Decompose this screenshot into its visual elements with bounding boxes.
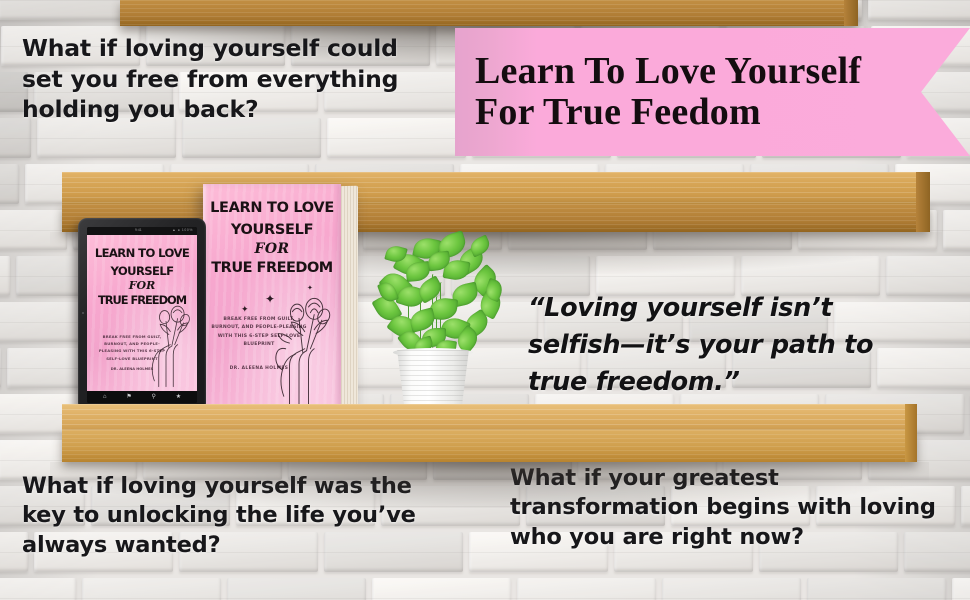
headline-line-1: Learn To Love Yourself <box>475 51 970 92</box>
ebook-title-line-2: YOURSELF <box>87 264 197 278</box>
ebook-title-line-3: FOR <box>87 279 197 292</box>
shelf-top-endcap <box>844 0 858 26</box>
shelf-bottom-endcap <box>905 404 917 462</box>
search-icon[interactable]: ⚲ <box>152 394 156 400</box>
ereader-tablet[interactable]: 9:41 ▲ ● 100% LEARN TO LOVE YOURSELF FOR… <box>78 218 206 412</box>
headline-ribbon-banner: Learn To Love Yourself For True Feedom <box>455 28 970 156</box>
sparkle-icon: ✦ <box>241 304 249 315</box>
banner-scene: Learn To Love Yourself For True Feedom W… <box>0 0 970 600</box>
shelf-bottom-surface <box>62 404 917 430</box>
status-indicators: ▲ ● 100% <box>172 228 193 232</box>
hand-with-flowers-illustration <box>261 280 337 408</box>
plant-foliage <box>352 228 512 358</box>
ebook-title-line-1: LEARN TO LOVE <box>87 246 197 260</box>
tablet-navigation-bar[interactable]: ⌂⚑⚲★ <box>87 391 197 403</box>
shelf-top <box>120 0 858 26</box>
book-title-line-4: TRUE FREEDOM <box>203 260 341 276</box>
pot-ribbing <box>394 350 472 412</box>
hand-with-flowers-illustration <box>137 293 195 389</box>
star-icon[interactable]: ★ <box>176 394 181 400</box>
printed-book: LEARN TO LOVE YOURSELF FOR TRUE FREEDOM … <box>203 184 358 412</box>
home-icon[interactable]: ⌂ <box>103 394 107 400</box>
status-bar: 9:41 ▲ ● 100% <box>87 227 197 235</box>
shelf-bottom-shadow <box>50 462 929 508</box>
shelf-middle-endcap <box>916 172 930 232</box>
book-cover-title: LEARN TO LOVE YOURSELF FOR TRUE FREEDOM <box>203 200 341 276</box>
camera-icon <box>82 312 84 314</box>
shelf-bottom-edge <box>62 430 917 462</box>
bookmark-icon[interactable]: ⚑ <box>126 394 131 400</box>
question-top-left: What if loving yourself could set you fr… <box>22 33 442 125</box>
potted-plant <box>352 228 512 412</box>
book-title-line-2: YOURSELF <box>203 222 341 238</box>
pull-quote: “Loving yourself isn’t selfish—it’s your… <box>528 290 928 402</box>
shelf-middle-surface <box>62 172 930 204</box>
status-time: 9:41 <box>135 228 142 232</box>
book-front-cover: LEARN TO LOVE YOURSELF FOR TRUE FREEDOM … <box>203 184 341 412</box>
shelf-top-edge <box>120 0 858 26</box>
tablet-screen[interactable]: 9:41 ▲ ● 100% LEARN TO LOVE YOURSELF FOR… <box>87 227 197 403</box>
shelf-bottom <box>62 404 917 462</box>
book-title-line-1: LEARN TO LOVE <box>203 200 341 216</box>
headline-line-2: For True Feedom <box>475 92 970 133</box>
ebook-cover: LEARN TO LOVE YOURSELF FOR TRUE FREEDOM … <box>87 235 197 391</box>
book-title-line-3: FOR <box>203 241 341 257</box>
